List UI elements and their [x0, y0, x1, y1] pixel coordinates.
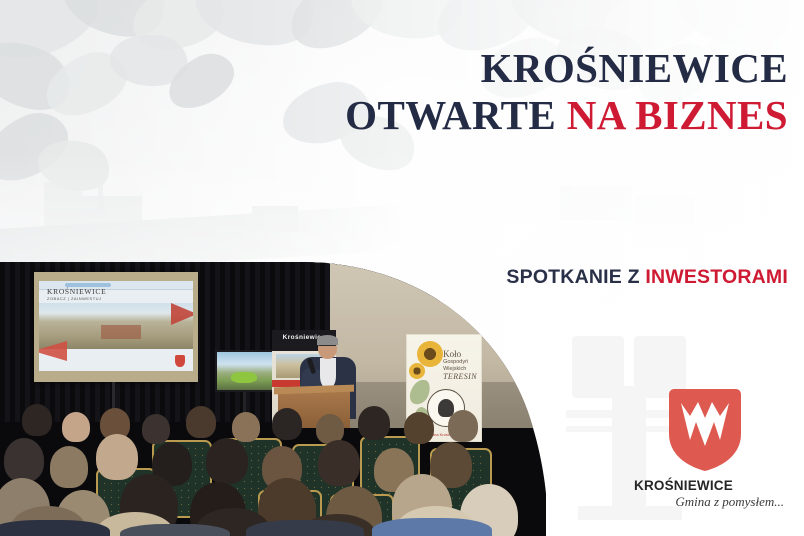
coat-of-arms-icon [666, 388, 744, 472]
slide-arrow-right-icon [171, 303, 193, 325]
subtitle-accent: INWESTORAMI [645, 266, 788, 288]
poster: KROŚNIEWICE OTWARTE NA BIZNES SPOTKANIE … [0, 0, 804, 536]
sunflower-icon [409, 363, 425, 379]
slide-title: KROŚNIEWICE [47, 287, 106, 296]
glasses-icon [319, 345, 336, 350]
subtitle-plain: SPOTKANIE Z [506, 266, 645, 288]
tv-screen-content [217, 352, 273, 390]
logo-name: KROŚNIEWICE [632, 478, 790, 493]
slide-crest-icon [175, 355, 185, 367]
presentation-slide: KROŚNIEWICE ZOBACZ | ZAINWESTUJ [39, 281, 193, 371]
logo-block: KROŚNIEWICE Gmina z pomysłem... [632, 388, 790, 510]
logo-tagline: Gmina z pomysłem... [632, 494, 790, 510]
slide-subtitle: ZOBACZ | ZAINWESTUJ [47, 296, 102, 301]
slide-arrow-left-icon [39, 341, 67, 361]
teresin-line-4: TERESIN [443, 372, 477, 381]
page-title: KROŚNIEWICE OTWARTE NA BIZNES [345, 45, 788, 139]
tv-monitor [215, 350, 275, 392]
headline-line-2-accent: NA BIZNES [567, 92, 788, 138]
headline-line-1: KROŚNIEWICE [481, 45, 788, 91]
rollup-banner-teresin-text: Koło Gospodyń Wiejskich TERESIN [443, 349, 477, 381]
subtitle: SPOTKANIE Z INWESTORAMI [506, 266, 788, 289]
teresin-line-1: Koło [443, 349, 477, 359]
headline-line-2-plain: OTWARTE [345, 92, 567, 138]
projection-screen: KROŚNIEWICE ZOBACZ | ZAINWESTUJ [34, 272, 198, 382]
